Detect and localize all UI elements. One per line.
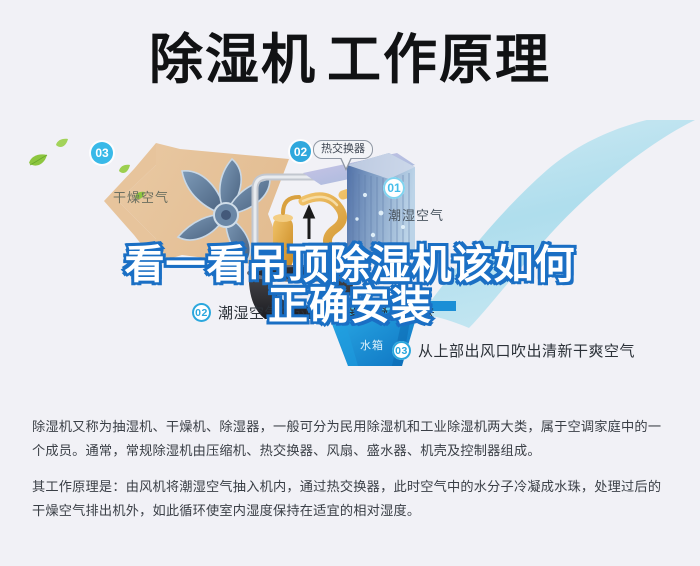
label-humid-air: 潮湿空气 bbox=[388, 205, 444, 224]
badge-02-heat-exchanger: 02 bbox=[290, 141, 311, 162]
legend-item-03: 03 从上部出风口吹出清新干爽空气 bbox=[392, 340, 635, 361]
legend-text-03: 从上部出风口吹出清新干爽空气 bbox=[418, 340, 635, 361]
legend-number-02: 02 bbox=[192, 303, 211, 322]
article-body: 除湿机又称为抽湿机、干燥机、除湿器，一般可分为民用除湿机和工业除湿机两大类，属于… bbox=[32, 415, 672, 523]
badge-03-dry-air: 03 bbox=[91, 142, 113, 164]
callout-tail-icon bbox=[340, 158, 352, 171]
title-part-2: 工作原理 bbox=[327, 28, 551, 91]
leaf-icon bbox=[28, 153, 48, 174]
legend-number-03: 03 bbox=[392, 341, 411, 360]
heat-exchanger-callout-label: 热交换器 bbox=[321, 143, 365, 155]
legend-item-02: 02 潮湿空气经过蒸发器冷凝成水珠 bbox=[192, 302, 435, 323]
badge-01-humid-air: 01 bbox=[383, 177, 405, 199]
label-dry-air: 干燥空气 bbox=[113, 187, 169, 206]
label-water-tank: 水箱 bbox=[360, 337, 384, 353]
page-title: 除湿机工作原理 bbox=[0, 20, 700, 100]
body-paragraph-1: 除湿机又称为抽湿机、干燥机、除湿器，一般可分为民用除湿机和工业除湿机两大类，属于… bbox=[32, 415, 672, 463]
heat-exchanger-callout: 热交换器 bbox=[313, 140, 373, 159]
poster-page: 除湿机工作原理 bbox=[0, 0, 700, 566]
dehumidifier-diagram: 03 02 01 热交换器 干燥空气 潮湿空气 水箱 bbox=[0, 115, 700, 405]
leaf-icon bbox=[118, 163, 131, 181]
legend-text-02: 潮湿空气经过蒸发器冷凝成水珠 bbox=[218, 302, 435, 323]
title-part-1: 除湿机 bbox=[149, 28, 317, 91]
leaf-icon bbox=[55, 137, 69, 155]
body-paragraph-2: 其工作原理是：由风机将潮湿空气抽入机内，通过热交换器，此时空气中的水分子冷凝成水… bbox=[32, 475, 672, 523]
